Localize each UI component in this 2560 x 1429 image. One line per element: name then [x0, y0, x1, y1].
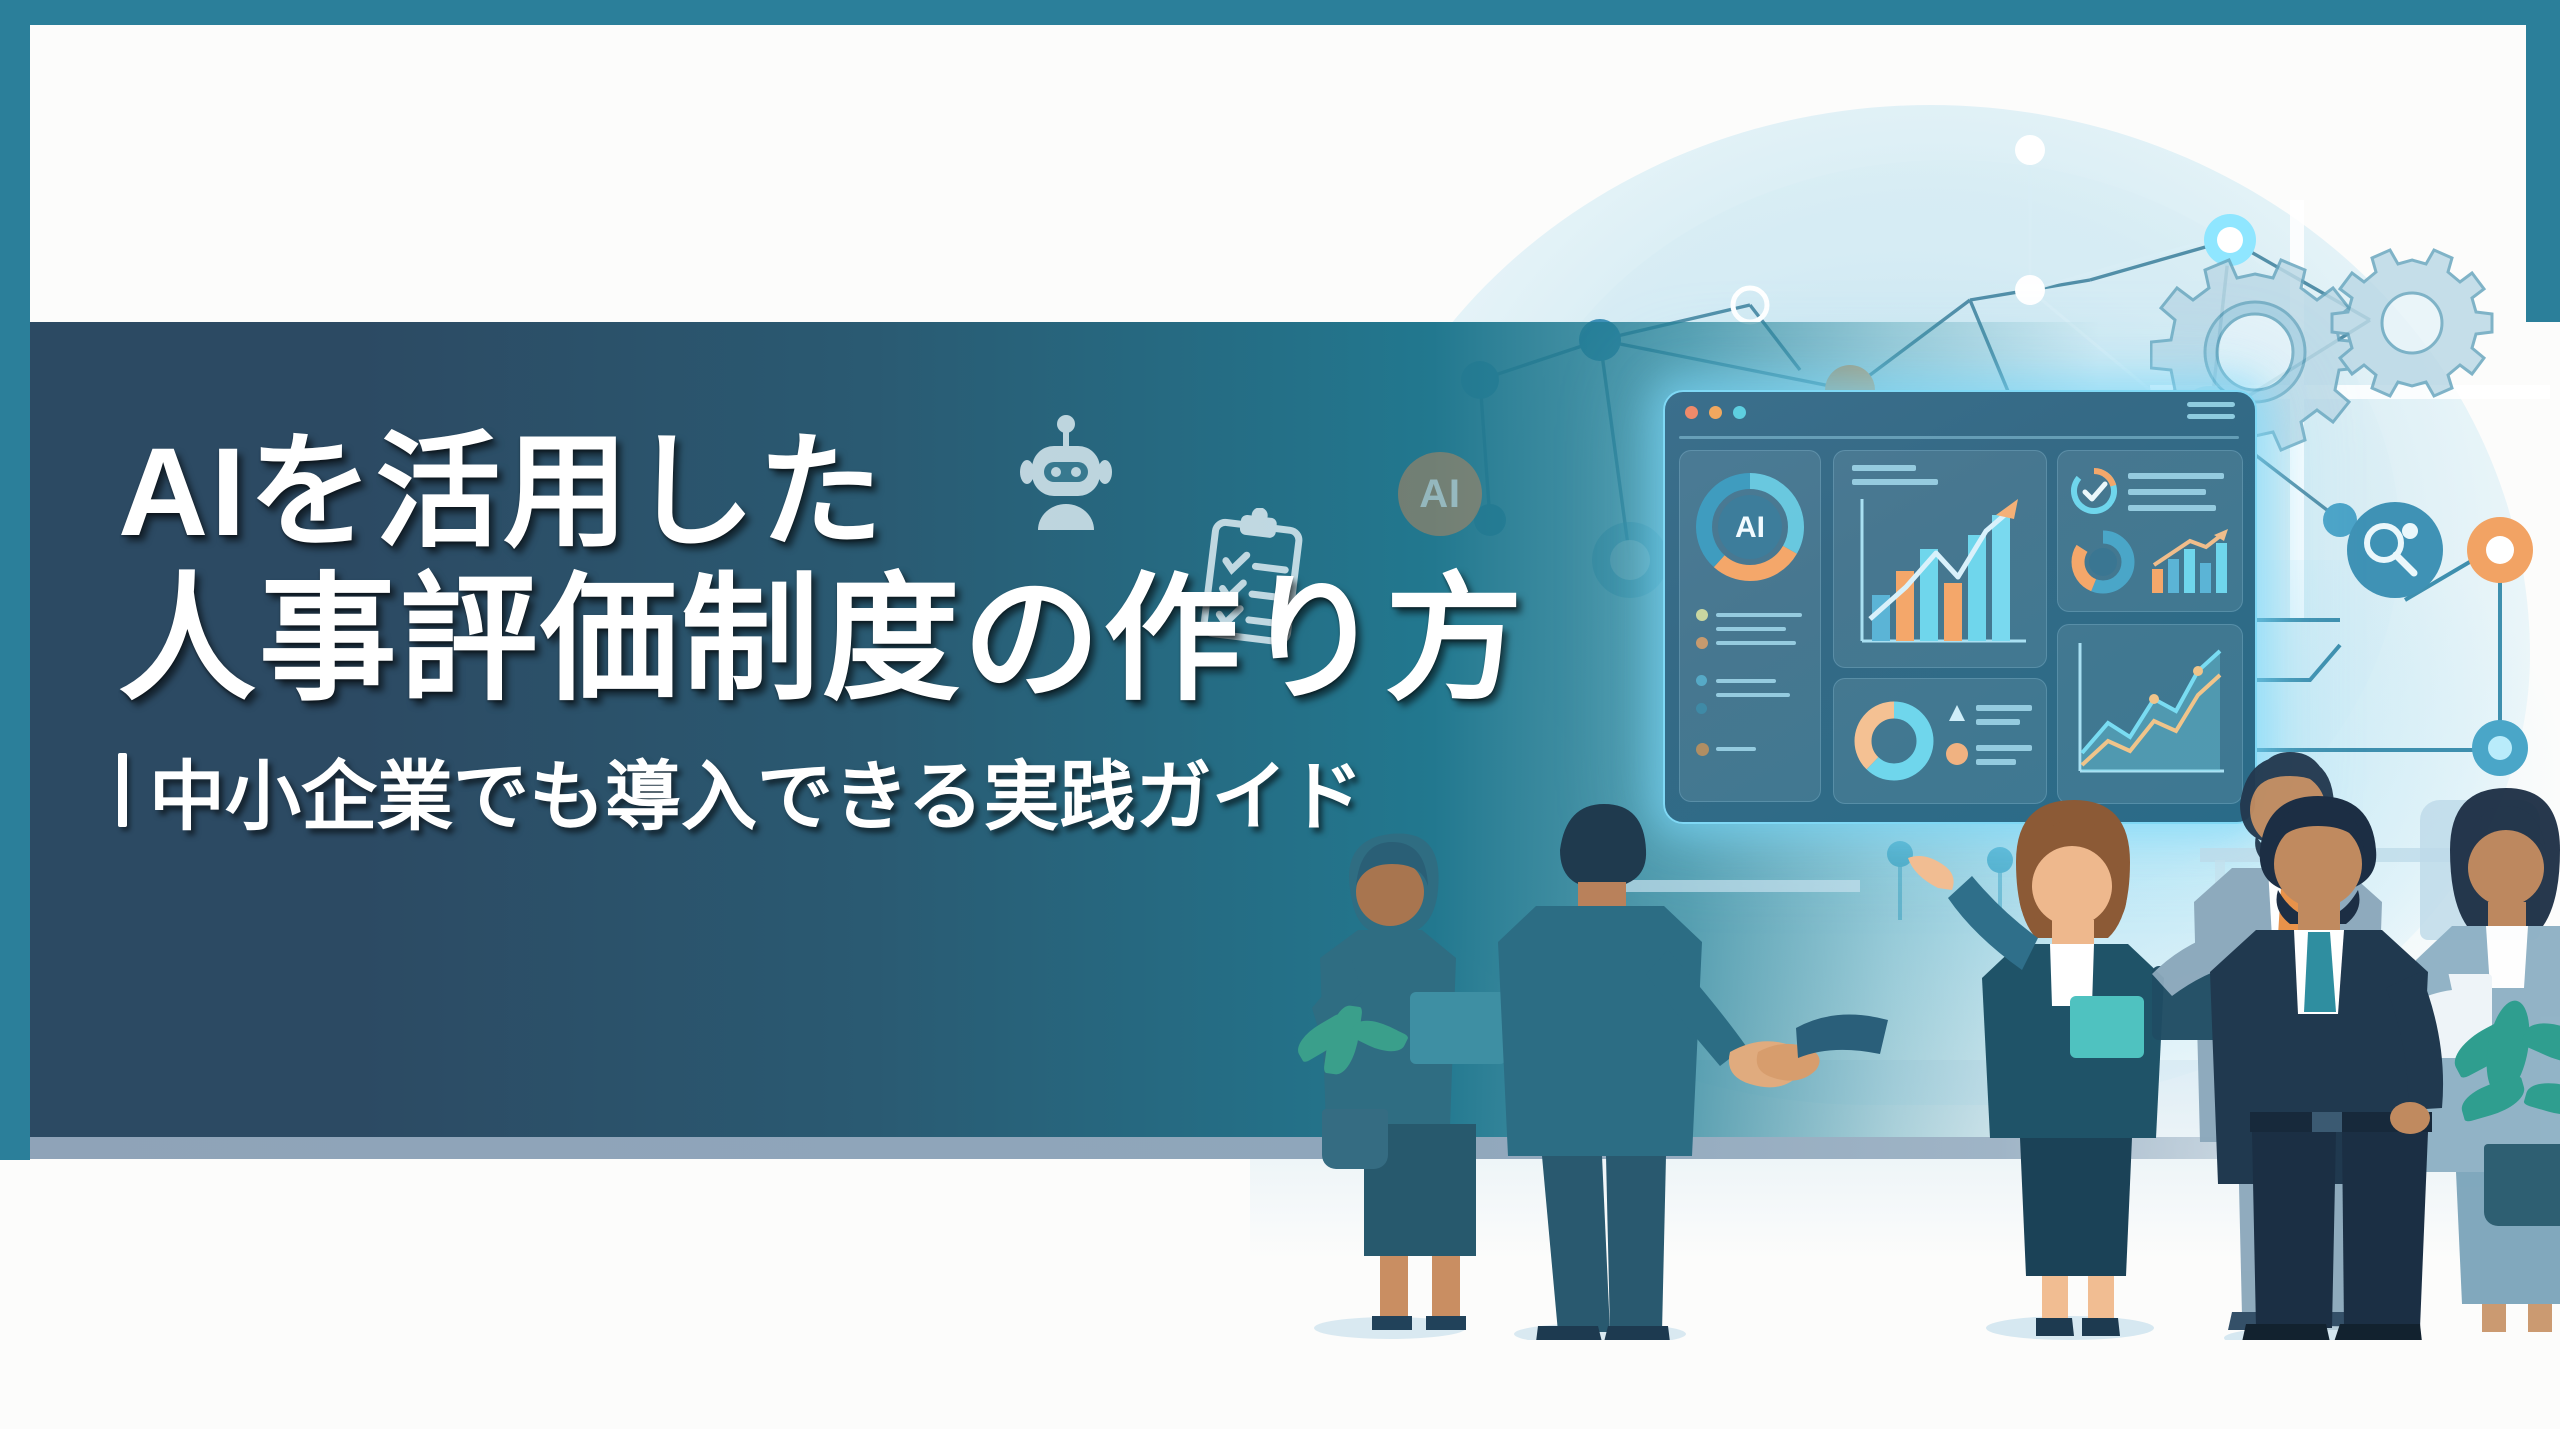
window-title-bar: [1665, 392, 2255, 432]
subtitle-rule: [118, 753, 127, 827]
ai-donut-chart: AI: [1688, 465, 1812, 589]
hero-subtitle-text: 中小企業でも導入できる実践ガイド: [149, 735, 1363, 845]
network-node: [2015, 275, 2045, 305]
window-menu-line: [2187, 414, 2235, 419]
hero-title-line-2: 人事評価制度の作り方: [118, 571, 1526, 709]
window-divider: [1679, 436, 2239, 439]
panel-title-line: [1852, 465, 1916, 471]
frame-border-left: [0, 0, 30, 1160]
banner-canvas: AI: [0, 0, 2560, 1429]
person-man-handshake-left: [1498, 804, 1746, 1340]
plant-leaf: [2457, 1075, 2529, 1122]
panel-title-line: [1852, 479, 1938, 485]
hero-subtitle: 中小企業でも導入できる実践ガイド: [118, 735, 1526, 845]
kpi-line: [2128, 505, 2216, 511]
check-kpi-panel[interactable]: [2057, 450, 2243, 612]
frame-border-right: [2526, 0, 2560, 322]
window-dot-amber[interactable]: [1709, 406, 1722, 419]
hero-title-line-1: AIを活用した: [118, 430, 1526, 555]
kpi-mini-bars-chart: [2146, 525, 2232, 599]
check-circle-icon: [2068, 465, 2120, 517]
person-woman-brown-hair-pointing: [1908, 800, 2164, 1340]
network-node: [2015, 135, 2045, 165]
person-man-handshake-right: [1796, 1015, 1888, 1058]
hero-text-block: AIを活用した 人事評価制度の作り方 中小企業でも導入できる実践ガイド: [118, 430, 1526, 845]
plant-leaf: [2523, 1075, 2560, 1122]
frame-border-top: [0, 0, 2560, 25]
window-dot-cyan[interactable]: [1733, 406, 1746, 419]
potted-plant: [1290, 1005, 1420, 1195]
potted-plant: [2440, 1000, 2560, 1250]
kpi-line: [2128, 489, 2206, 495]
kpi-line: [2128, 473, 2224, 479]
window-dot-red[interactable]: [1685, 406, 1698, 419]
plant-pot: [1322, 1109, 1388, 1169]
kpi-donut-chart: [2066, 525, 2140, 599]
window-menu-line: [2187, 402, 2235, 407]
plant-pot: [2484, 1144, 2560, 1226]
ai-donut-label: AI: [1735, 511, 1765, 544]
